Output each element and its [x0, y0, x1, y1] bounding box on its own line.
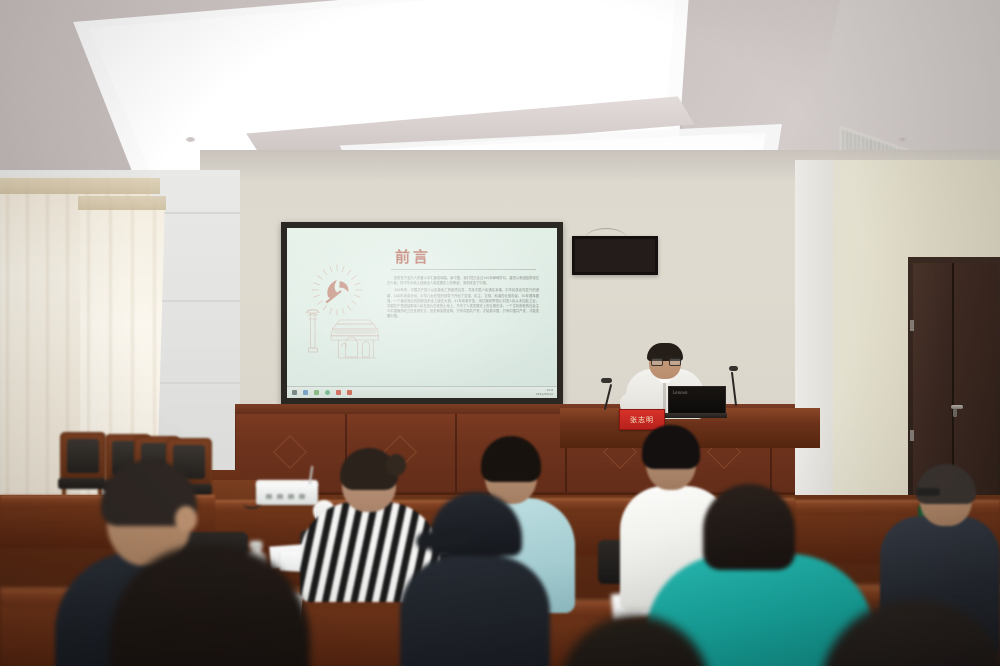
slide-title-rule [391, 269, 536, 270]
projection-screen: 前言 历史在千百万人的奋斗中汇聚成辉煌。新中国，我们党已走过100年峥嵘岁月，建… [287, 228, 557, 398]
slide-paragraph: 100年来，中国共产党人从民族危亡的困境出发，寻找中国人民通往幸福、中华民族走向… [387, 288, 539, 319]
attendee-dark-cap [400, 490, 550, 666]
gooseneck-microphone-head-right [729, 366, 738, 371]
attendee-foreground-head-center [560, 615, 710, 666]
attendee-hair-bun [386, 454, 406, 476]
nameplate-text: 张志明 [630, 415, 654, 425]
laptop-base [665, 413, 727, 418]
downlight [186, 137, 195, 142]
powerpoint-icon[interactable] [347, 390, 352, 395]
slide-paragraph: 历史在千百万人的奋斗中汇聚成辉煌。新中国，我们党已走过100年峥嵘岁月，建党以来… [387, 276, 539, 286]
gooseneck-microphone-head [601, 378, 612, 383]
glasses-lens-left [651, 358, 663, 366]
presentation-slide: 前言 历史在千百万人的奋斗中汇聚成辉煌。新中国，我们党已走过100年峥嵘岁月，建… [287, 228, 557, 398]
door-hinge [910, 320, 914, 331]
attendee-ear [175, 506, 197, 532]
attendee-hair [481, 436, 541, 482]
presenter-glasses-icon [651, 357, 679, 365]
attendee-hair [820, 600, 1000, 666]
conference-room-photo: 前言 历史在千百万人的奋斗中汇聚成辉煌。新中国，我们党已走过100年峥嵘岁月，建… [0, 0, 1000, 666]
slide-title: 前言 [395, 246, 431, 267]
taskbar-clock[interactable]: 14:8 2021/05/12 [536, 388, 553, 396]
attendee-glasses-icon [916, 488, 940, 496]
attendee-body [400, 556, 550, 666]
folder-icon[interactable] [314, 390, 319, 395]
presenter-laptop[interactable]: Lenovo [668, 386, 724, 418]
attendee-hair [110, 545, 310, 666]
media-icon[interactable] [336, 390, 341, 395]
curtain-rail [0, 178, 160, 194]
attendee-hair [642, 425, 700, 469]
door-hinge [910, 430, 914, 441]
attendee-hair [916, 464, 976, 504]
attendee-hair [560, 615, 710, 666]
laptop-screen: Lenovo [668, 386, 726, 415]
door-lock-icon[interactable] [953, 409, 957, 417]
explorer-icon[interactable] [303, 390, 308, 395]
attendee-foreground-head-right [820, 600, 1000, 666]
laptop-brand-label: Lenovo [673, 390, 687, 395]
tiananmen-gate-illustration [303, 304, 379, 364]
browser-icon[interactable] [325, 390, 330, 395]
chair-cushion [67, 439, 99, 473]
glasses-lens-right [669, 358, 681, 366]
wall-led-panel [572, 236, 658, 275]
start-icon[interactable] [292, 390, 297, 395]
windows-taskbar[interactable]: 14:8 2021/05/12 [287, 386, 557, 398]
attendee-foreground-head [110, 545, 325, 666]
downlight [898, 137, 907, 142]
attendee-hair [703, 484, 795, 570]
clock-date: 2021/05/12 [536, 392, 553, 396]
curtain-rail-inner [78, 196, 166, 210]
slide-body-text: 历史在千百万人的奋斗中汇聚成辉煌。新中国，我们党已走过100年峥嵘岁月，建党以来… [387, 276, 539, 322]
projector-port [288, 494, 294, 499]
